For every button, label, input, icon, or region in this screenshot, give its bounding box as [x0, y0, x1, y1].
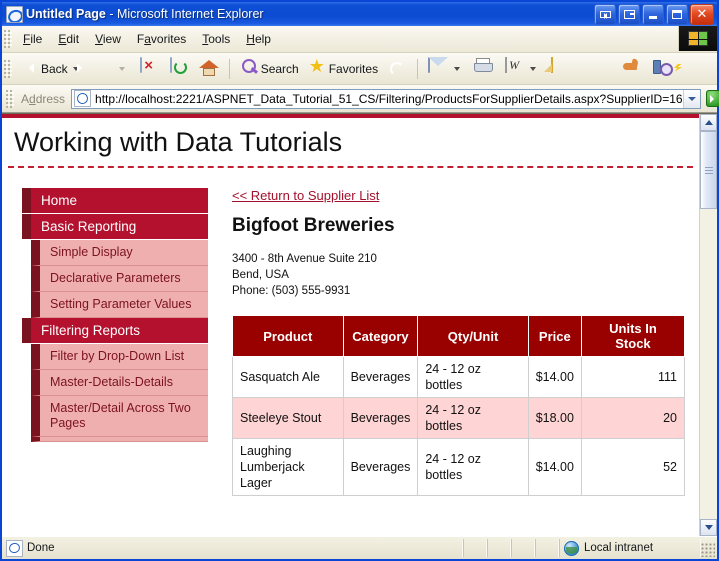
forward-icon — [92, 58, 114, 80]
page-document-icon — [6, 540, 23, 557]
stop-button[interactable] — [134, 56, 164, 82]
scrollbar-thumb[interactable] — [700, 131, 717, 209]
page-title: Working with Data Tutorials — [2, 118, 699, 166]
restore-arrows-icon — [600, 11, 611, 18]
status-panel-1 — [463, 539, 487, 557]
sidebar-item-filter-by-drop-down-list[interactable]: Filter by Drop-Down List — [31, 344, 208, 370]
security-zone-panel[interactable]: Local intranet — [559, 539, 701, 557]
supplier-address-line-1: 3400 - 8th Avenue Suite 210 — [232, 251, 685, 267]
back-icon — [19, 58, 41, 80]
cell-qty: 24 - 12 oz bottles — [418, 357, 528, 398]
search-label: Search — [261, 62, 299, 76]
restore-icon — [624, 10, 635, 19]
column-header-price: Price — [528, 316, 581, 357]
toolbar-separator-3 — [580, 59, 581, 79]
status-text: Done — [27, 542, 55, 554]
products-table: Product Category Qty/Unit Price Units In… — [232, 315, 685, 496]
main-content: << Return to Supplier List Bigfoot Brewe… — [208, 188, 699, 496]
cell-stock: 52 — [581, 439, 684, 496]
close-icon: ✕ — [697, 9, 708, 21]
favorites-label: Favorites — [329, 62, 378, 76]
research-icon — [650, 58, 672, 80]
toolbar-drag-handle[interactable] — [4, 60, 12, 78]
mail-chevron-down-icon[interactable] — [454, 67, 460, 71]
menu-drag-handle[interactable] — [4, 30, 12, 48]
edit-word-button[interactable] — [499, 56, 545, 82]
address-bar: Address http://localhost:2221/ASPNET_Dat… — [2, 85, 717, 113]
forward-chevron-down-icon[interactable] — [119, 67, 125, 71]
scroll-down-button[interactable] — [700, 519, 717, 536]
cell-price: $18.00 — [528, 398, 581, 439]
cell-product: Sasquatch Ale — [233, 357, 344, 398]
cell-category: Beverages — [343, 398, 418, 439]
edit-chevron-down-icon[interactable] — [530, 67, 536, 71]
address-input[interactable]: http://localhost:2221/ASPNET_Data_Tutori… — [71, 89, 701, 109]
sidebar-item-declarative-parameters[interactable]: Declarative Parameters — [31, 266, 208, 292]
search-button[interactable]: Search — [235, 56, 303, 82]
go-arrow-icon — [706, 90, 719, 107]
cell-price: $14.00 — [528, 357, 581, 398]
sidebar-item-master-detail-across-two-pages[interactable]: Master/Detail Across Two Pages — [31, 396, 208, 437]
windows-flag-logo — [678, 26, 717, 51]
maximize-icon — [672, 10, 682, 19]
toolbar: Back Search ★ Favorites — [2, 53, 717, 85]
supplier-address-line-2: Bend, USA — [232, 267, 685, 283]
table-row: Steeleye Stout Beverages 24 - 12 oz bott… — [233, 398, 685, 439]
cell-price: $14.00 — [528, 439, 581, 496]
window-title-main: Untitled Page — [26, 7, 106, 21]
notes-button[interactable] — [545, 56, 575, 82]
status-bar: Done Local intranet — [2, 536, 717, 559]
browser-window: Untitled Page - Microsoft Internet Explo… — [0, 0, 719, 561]
toolbar-separator-2 — [417, 59, 418, 79]
status-message-panel: Done — [2, 539, 463, 557]
security-zone-label: Local intranet — [584, 542, 653, 554]
window-title: Untitled Page - Microsoft Internet Explo… — [26, 7, 264, 21]
sidebar-item-partial[interactable] — [31, 437, 208, 442]
status-panel-2 — [487, 539, 511, 557]
refresh-icon — [168, 58, 190, 80]
home-button[interactable] — [194, 56, 224, 82]
cell-category: Beverages — [343, 439, 418, 496]
research-button[interactable] — [646, 56, 676, 82]
cell-stock: 20 — [581, 398, 684, 439]
favorites-star-icon: ★ — [307, 58, 329, 80]
mail-icon — [427, 58, 449, 80]
stop-icon — [138, 58, 160, 80]
go-button[interactable]: Go — [701, 90, 719, 107]
menu-item-favorites[interactable]: Favorites — [129, 29, 194, 49]
column-header-qty-unit: Qty/Unit — [418, 316, 528, 357]
sidebar-item-master-details-details[interactable]: Master-Details-Details — [31, 370, 208, 396]
mail-button[interactable] — [423, 56, 469, 82]
sidebar-item-simple-display[interactable]: Simple Display — [31, 240, 208, 266]
notes-icon — [549, 58, 571, 80]
table-header-row: Product Category Qty/Unit Price Units In… — [233, 316, 685, 357]
menu-item-tools[interactable]: Tools — [194, 29, 238, 49]
vertical-scrollbar[interactable] — [699, 114, 717, 536]
sidebar-item-setting-parameter-values[interactable]: Setting Parameter Values — [31, 292, 208, 318]
status-panel-4 — [535, 539, 559, 557]
edit-word-icon — [503, 58, 525, 80]
maximize-button[interactable] — [666, 4, 688, 25]
status-panel-3 — [511, 539, 535, 557]
cell-product: Laughing Lumberjack Lager — [233, 439, 344, 496]
fox-icon — [620, 58, 642, 80]
messenger-icon — [590, 58, 612, 80]
print-button[interactable] — [469, 56, 499, 82]
address-url-text: http://localhost:2221/ASPNET_Data_Tutori… — [95, 92, 683, 106]
sidebar-item-filtering-reports[interactable]: Filtering Reports — [22, 318, 208, 343]
menu-item-file[interactable]: File — [15, 29, 50, 49]
history-button[interactable] — [382, 56, 412, 82]
column-header-category: Category — [343, 316, 418, 357]
home-icon — [198, 58, 220, 80]
table-row: Sasquatch Ale Beverages 24 - 12 oz bottl… — [233, 357, 685, 398]
resize-grip[interactable] — [701, 543, 715, 557]
menu-item-help[interactable]: Help — [238, 29, 279, 49]
address-drag-handle[interactable] — [6, 90, 14, 108]
cell-stock: 111 — [581, 357, 684, 398]
address-label: Address — [17, 92, 71, 106]
messenger-button[interactable] — [586, 56, 616, 82]
back-label: Back — [41, 62, 68, 76]
search-icon — [239, 58, 261, 80]
menu-bar: File Edit View Favorites Tools Help — [2, 26, 717, 53]
column-header-product: Product — [233, 316, 344, 357]
window-controls: ✕ — [594, 4, 714, 25]
forward-button[interactable] — [88, 56, 134, 82]
page-viewport: Working with Data Tutorials Home Basic R… — [2, 113, 717, 536]
cell-qty: 24 - 12 oz bottles — [418, 439, 528, 496]
restore-group-button[interactable] — [594, 4, 616, 25]
title-bar: Untitled Page - Microsoft Internet Explo… — [2, 2, 717, 26]
restore-window-button[interactable] — [618, 4, 640, 25]
sidebar-item-basic-reporting[interactable]: Basic Reporting — [22, 214, 208, 239]
close-button[interactable]: ✕ — [690, 4, 714, 25]
favorites-button[interactable]: ★ Favorites — [303, 56, 382, 82]
refresh-button[interactable] — [164, 56, 194, 82]
cell-category: Beverages — [343, 357, 418, 398]
chevron-down-icon[interactable] — [683, 90, 700, 108]
qr-icon — [680, 58, 702, 80]
supplier-name-heading: Bigfoot Breweries — [232, 215, 685, 237]
return-to-supplier-list-link[interactable]: << Return to Supplier List — [232, 188, 379, 203]
fox-button[interactable] — [616, 56, 646, 82]
minimize-button[interactable] — [642, 4, 664, 25]
sidebar-nav: Home Basic Reporting Simple Display Decl… — [22, 188, 208, 496]
minimize-icon — [649, 16, 657, 19]
web-page: Working with Data Tutorials Home Basic R… — [2, 114, 699, 536]
window-title-suffix: - Microsoft Internet Explorer — [106, 7, 264, 21]
ie-document-icon — [6, 6, 22, 22]
supplier-phone-line: Phone: (503) 555-9931 — [232, 283, 685, 299]
page-document-icon — [74, 90, 91, 107]
sidebar-item-home[interactable]: Home — [22, 188, 208, 213]
print-icon — [473, 58, 495, 80]
cell-product: Steeleye Stout — [233, 398, 344, 439]
column-header-units-in-stock: Units In Stock — [581, 316, 684, 357]
cell-qty: 24 - 12 oz bottles — [418, 398, 528, 439]
toolbar-separator — [229, 59, 230, 79]
scroll-up-button[interactable] — [700, 114, 717, 131]
history-icon — [386, 58, 408, 80]
scrollbar-track[interactable] — [700, 131, 717, 519]
qr-button[interactable] — [676, 56, 706, 82]
table-row: Laughing Lumberjack Lager Beverages 24 -… — [233, 439, 685, 496]
menu-item-view[interactable]: View — [87, 29, 129, 49]
globe-icon — [564, 541, 579, 556]
menu-item-edit[interactable]: Edit — [50, 29, 87, 49]
